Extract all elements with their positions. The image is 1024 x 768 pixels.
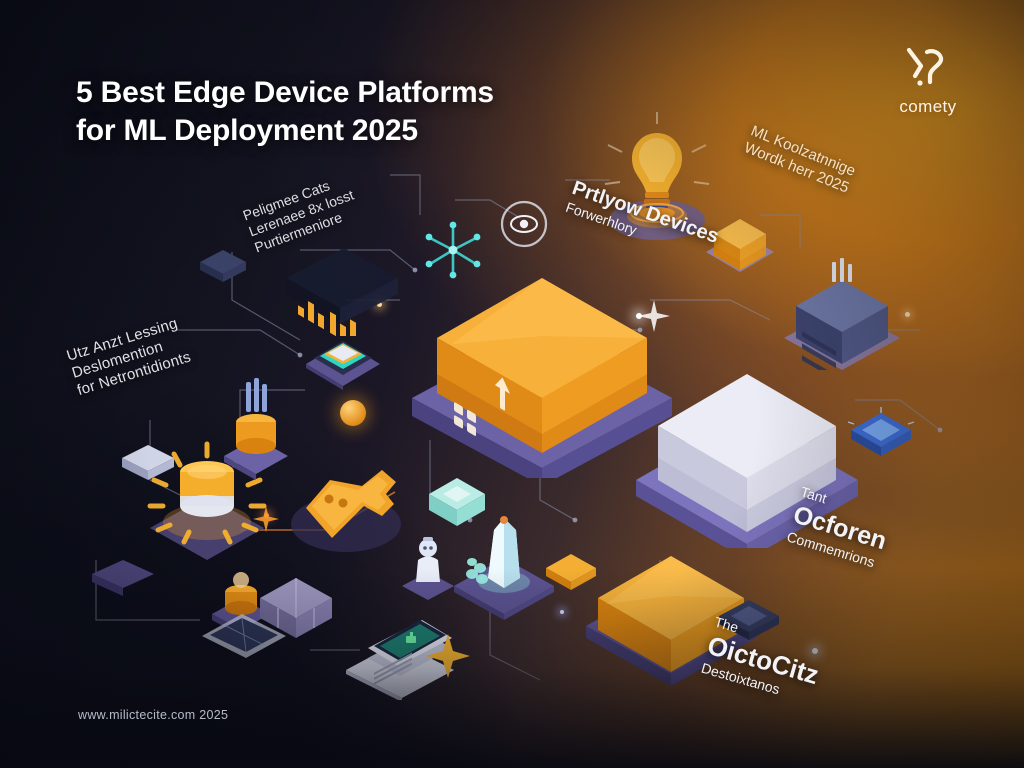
- microchip-icon: [196, 240, 250, 288]
- sparkle-star: [636, 298, 672, 334]
- chip-square-teal: [300, 318, 386, 390]
- orange-chip-small: [542, 544, 600, 592]
- eye-badge: [492, 192, 556, 256]
- sparkle-star: [424, 632, 472, 680]
- logo-wordmark: comety: [876, 97, 980, 117]
- microchip-dark: [714, 586, 784, 646]
- chip-square-blue: [846, 398, 916, 462]
- pedestal-small: [88, 548, 158, 600]
- grey-platform-cube: [622, 348, 872, 548]
- microchip-icon: [118, 434, 178, 486]
- title-line-1: 5 Best Edge Device Platforms: [76, 76, 494, 109]
- comety-abstract-mark-icon: [899, 42, 957, 94]
- orange-cube-small: [700, 206, 780, 278]
- footer-url: www.milictecite.com 2025: [78, 708, 228, 722]
- gold-sphere: [340, 400, 366, 426]
- glow-dot: [812, 648, 818, 654]
- cylinder-device: [216, 374, 296, 480]
- solar-panel: [196, 596, 292, 666]
- network-burst: [420, 218, 486, 282]
- robot-figure: [396, 528, 460, 608]
- server-rack: [772, 240, 912, 370]
- sparkle-star: [251, 504, 281, 534]
- title-line-2: for ML Deployment 2025: [76, 112, 636, 150]
- page-title: 5 Best Edge Device Platforms for ML Depl…: [76, 74, 636, 151]
- teal-cube: [424, 472, 490, 532]
- hero-canvas: 5 Best Edge Device Platforms for ML Depl…: [0, 0, 1024, 768]
- logo[interactable]: comety: [876, 42, 980, 117]
